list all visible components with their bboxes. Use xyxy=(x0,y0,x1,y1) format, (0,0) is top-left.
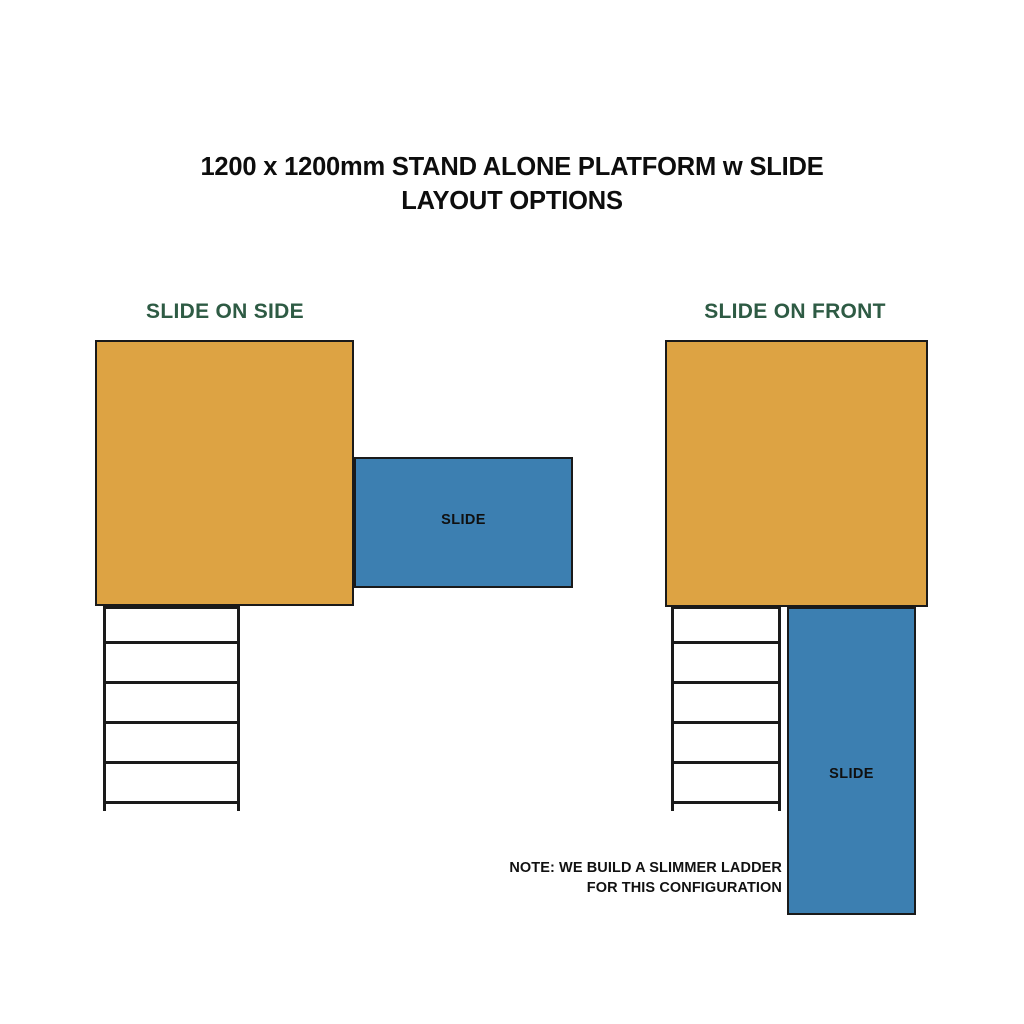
ladder-rung xyxy=(671,801,781,804)
platform-slide-on-side xyxy=(95,340,354,606)
ladder-rung xyxy=(103,606,240,609)
page-title-line-1: 1200 x 1200mm STAND ALONE PLATFORM w SLI… xyxy=(0,150,1024,184)
ladder-rung xyxy=(103,641,240,644)
ladder-rail-left xyxy=(671,606,674,811)
diagram-canvas: 1200 x 1200mm STAND ALONE PLATFORM w SLI… xyxy=(0,0,1024,1024)
ladder-rung xyxy=(671,681,781,684)
page-title: 1200 x 1200mm STAND ALONE PLATFORM w SLI… xyxy=(0,150,1024,218)
note-line-2: FOR THIS CONFIGURATION xyxy=(400,878,782,898)
ladder-rung xyxy=(671,641,781,644)
platform-slide-on-front xyxy=(665,340,928,607)
ladder-rail-right xyxy=(778,606,781,811)
ladder-slide-on-side xyxy=(103,606,240,811)
page-title-line-2: LAYOUT OPTIONS xyxy=(0,184,1024,218)
ladder-rung xyxy=(103,761,240,764)
ladder-rail-right xyxy=(237,606,240,811)
note-line-1: NOTE: WE BUILD A SLIMMER LADDER xyxy=(400,858,782,878)
note-block: NOTE: WE BUILD A SLIMMER LADDER FOR THIS… xyxy=(400,858,782,898)
slide-slide-on-front xyxy=(787,607,916,915)
ladder-rail-left xyxy=(103,606,106,811)
ladder-rung xyxy=(103,721,240,724)
ladder-rung xyxy=(103,681,240,684)
slide-label-slide-on-side: SLIDE xyxy=(354,512,573,528)
slide-label-slide-on-front: SLIDE xyxy=(787,766,916,782)
ladder-slide-on-front xyxy=(671,606,781,811)
ladder-rung xyxy=(671,761,781,764)
option-heading-slide-on-side: SLIDE ON SIDE xyxy=(60,300,390,324)
ladder-rung xyxy=(671,721,781,724)
ladder-rung xyxy=(103,801,240,804)
option-heading-slide-on-front: SLIDE ON FRONT xyxy=(630,300,960,324)
